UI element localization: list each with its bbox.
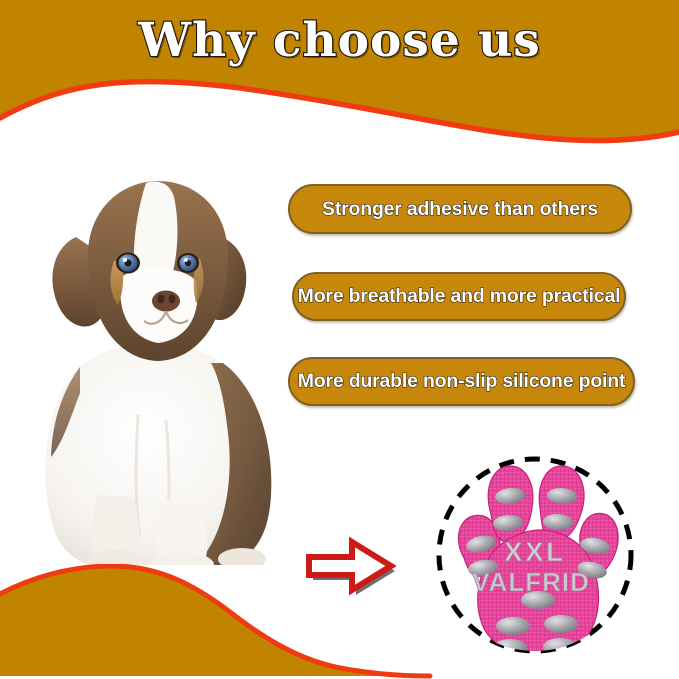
feature-pill-2-label: More breathable and more practical — [298, 285, 621, 308]
feature-pill-1[interactable]: Stronger adhesive than others — [288, 184, 632, 234]
poster-canvas: Why choose us — [0, 0, 679, 679]
footer-wave-fill — [0, 566, 430, 676]
puppy-illustration — [18, 165, 293, 565]
page-title: Why choose us — [0, 13, 679, 68]
feature-pill-2[interactable]: More breathable and more practical — [292, 272, 626, 321]
puppy-photo — [18, 165, 293, 570]
feature-pill-3-label: More durable non-slip silicone point — [298, 370, 626, 393]
feature-pill-3[interactable]: More durable non-slip silicone point — [288, 357, 635, 406]
header-banner: Why choose us — [0, 0, 679, 170]
product-size-text: XXL — [504, 537, 566, 567]
footer-wave-graphic — [0, 564, 679, 679]
feature-pill-1-label: Stronger adhesive than others — [322, 198, 598, 221]
puppy-head — [52, 181, 246, 361]
